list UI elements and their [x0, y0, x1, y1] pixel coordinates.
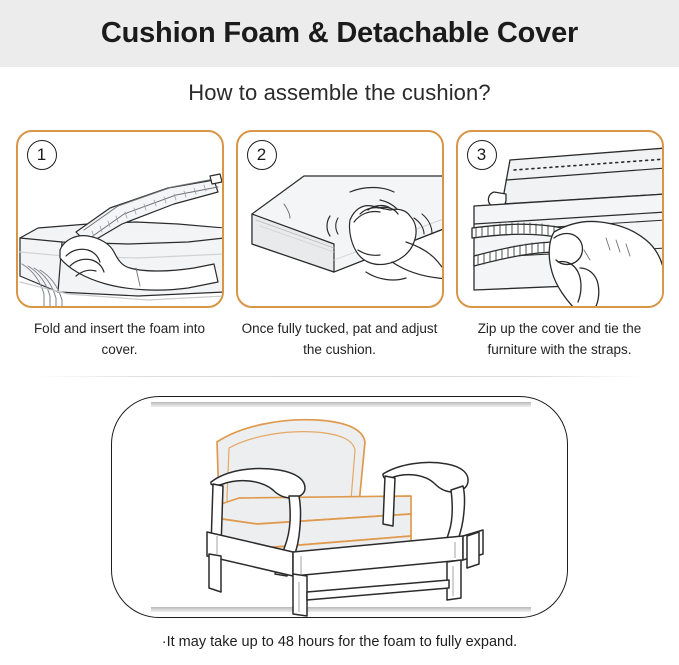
step-2-number-badge: 2 [247, 140, 277, 170]
step-1-caption: Fold and insert the foam into cover. [20, 318, 220, 360]
step-3-illustration-frame: 3 [456, 130, 664, 308]
step-2-caption: Once fully tucked, pat and adjust the cu… [240, 318, 440, 360]
step-3: 3 [456, 130, 664, 360]
assembly-steps: 1 [0, 130, 679, 360]
footer-note: ·It may take up to 48 hours for the foam… [0, 634, 679, 650]
step-3-number-badge: 3 [467, 140, 497, 170]
step-1-illustration-frame: 1 [16, 130, 224, 308]
step-2-illustration-frame: 2 [236, 130, 444, 308]
product-showcase [111, 396, 568, 618]
step-1-number-badge: 1 [27, 140, 57, 170]
subtitle-section: How to assemble the cushion? [0, 67, 679, 119]
section-divider [36, 376, 643, 377]
step-2: 2 [236, 130, 444, 360]
armchair-illustration [111, 396, 568, 618]
subtitle-text: How to assemble the cushion? [188, 80, 490, 106]
step-1: 1 [16, 130, 224, 360]
page-header: Cushion Foam & Detachable Cover [0, 0, 679, 67]
step-3-caption: Zip up the cover and tie the furniture w… [460, 318, 660, 360]
page-title: Cushion Foam & Detachable Cover [101, 17, 578, 50]
